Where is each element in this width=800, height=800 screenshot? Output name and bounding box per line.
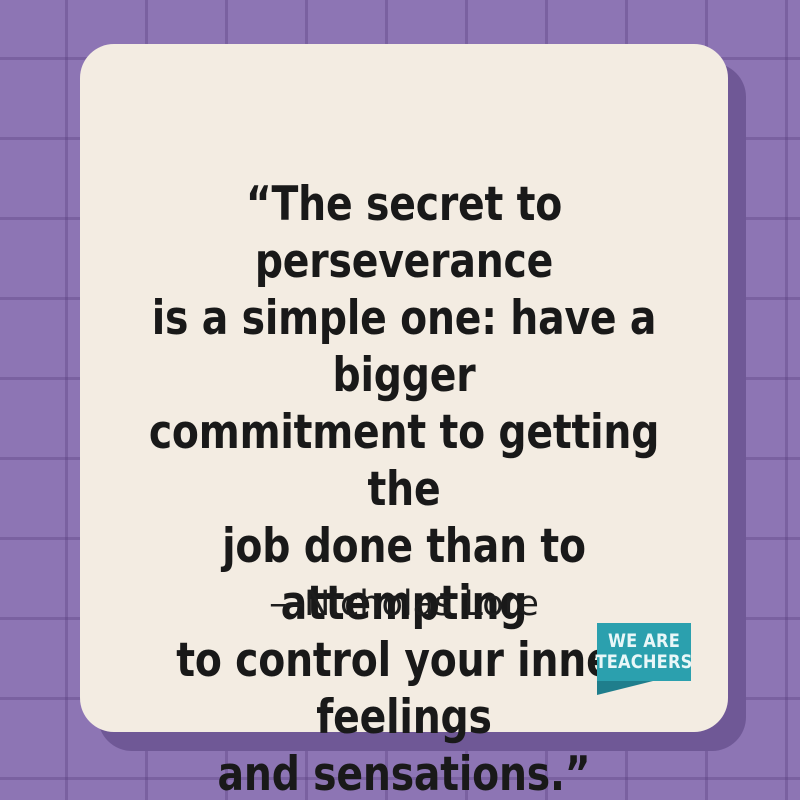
quote-graphic: “The secret to perseverance is a simple …: [0, 0, 800, 800]
we-are-teachers-logo[interactable]: WE ARE TEACHERS: [597, 623, 691, 681]
quote-attribution: —Nicholas Lore: [80, 584, 728, 624]
logo-wordmark: WE ARE TEACHERS: [599, 623, 688, 681]
logo-line-two: TEACHERS: [595, 652, 692, 673]
quote-card: “The secret to perseverance is a simple …: [80, 44, 728, 732]
quote-text: “The secret to perseverance is a simple …: [125, 176, 683, 800]
logo-bubble-tail-icon: [597, 681, 653, 695]
logo-line-one: WE ARE: [608, 631, 680, 652]
